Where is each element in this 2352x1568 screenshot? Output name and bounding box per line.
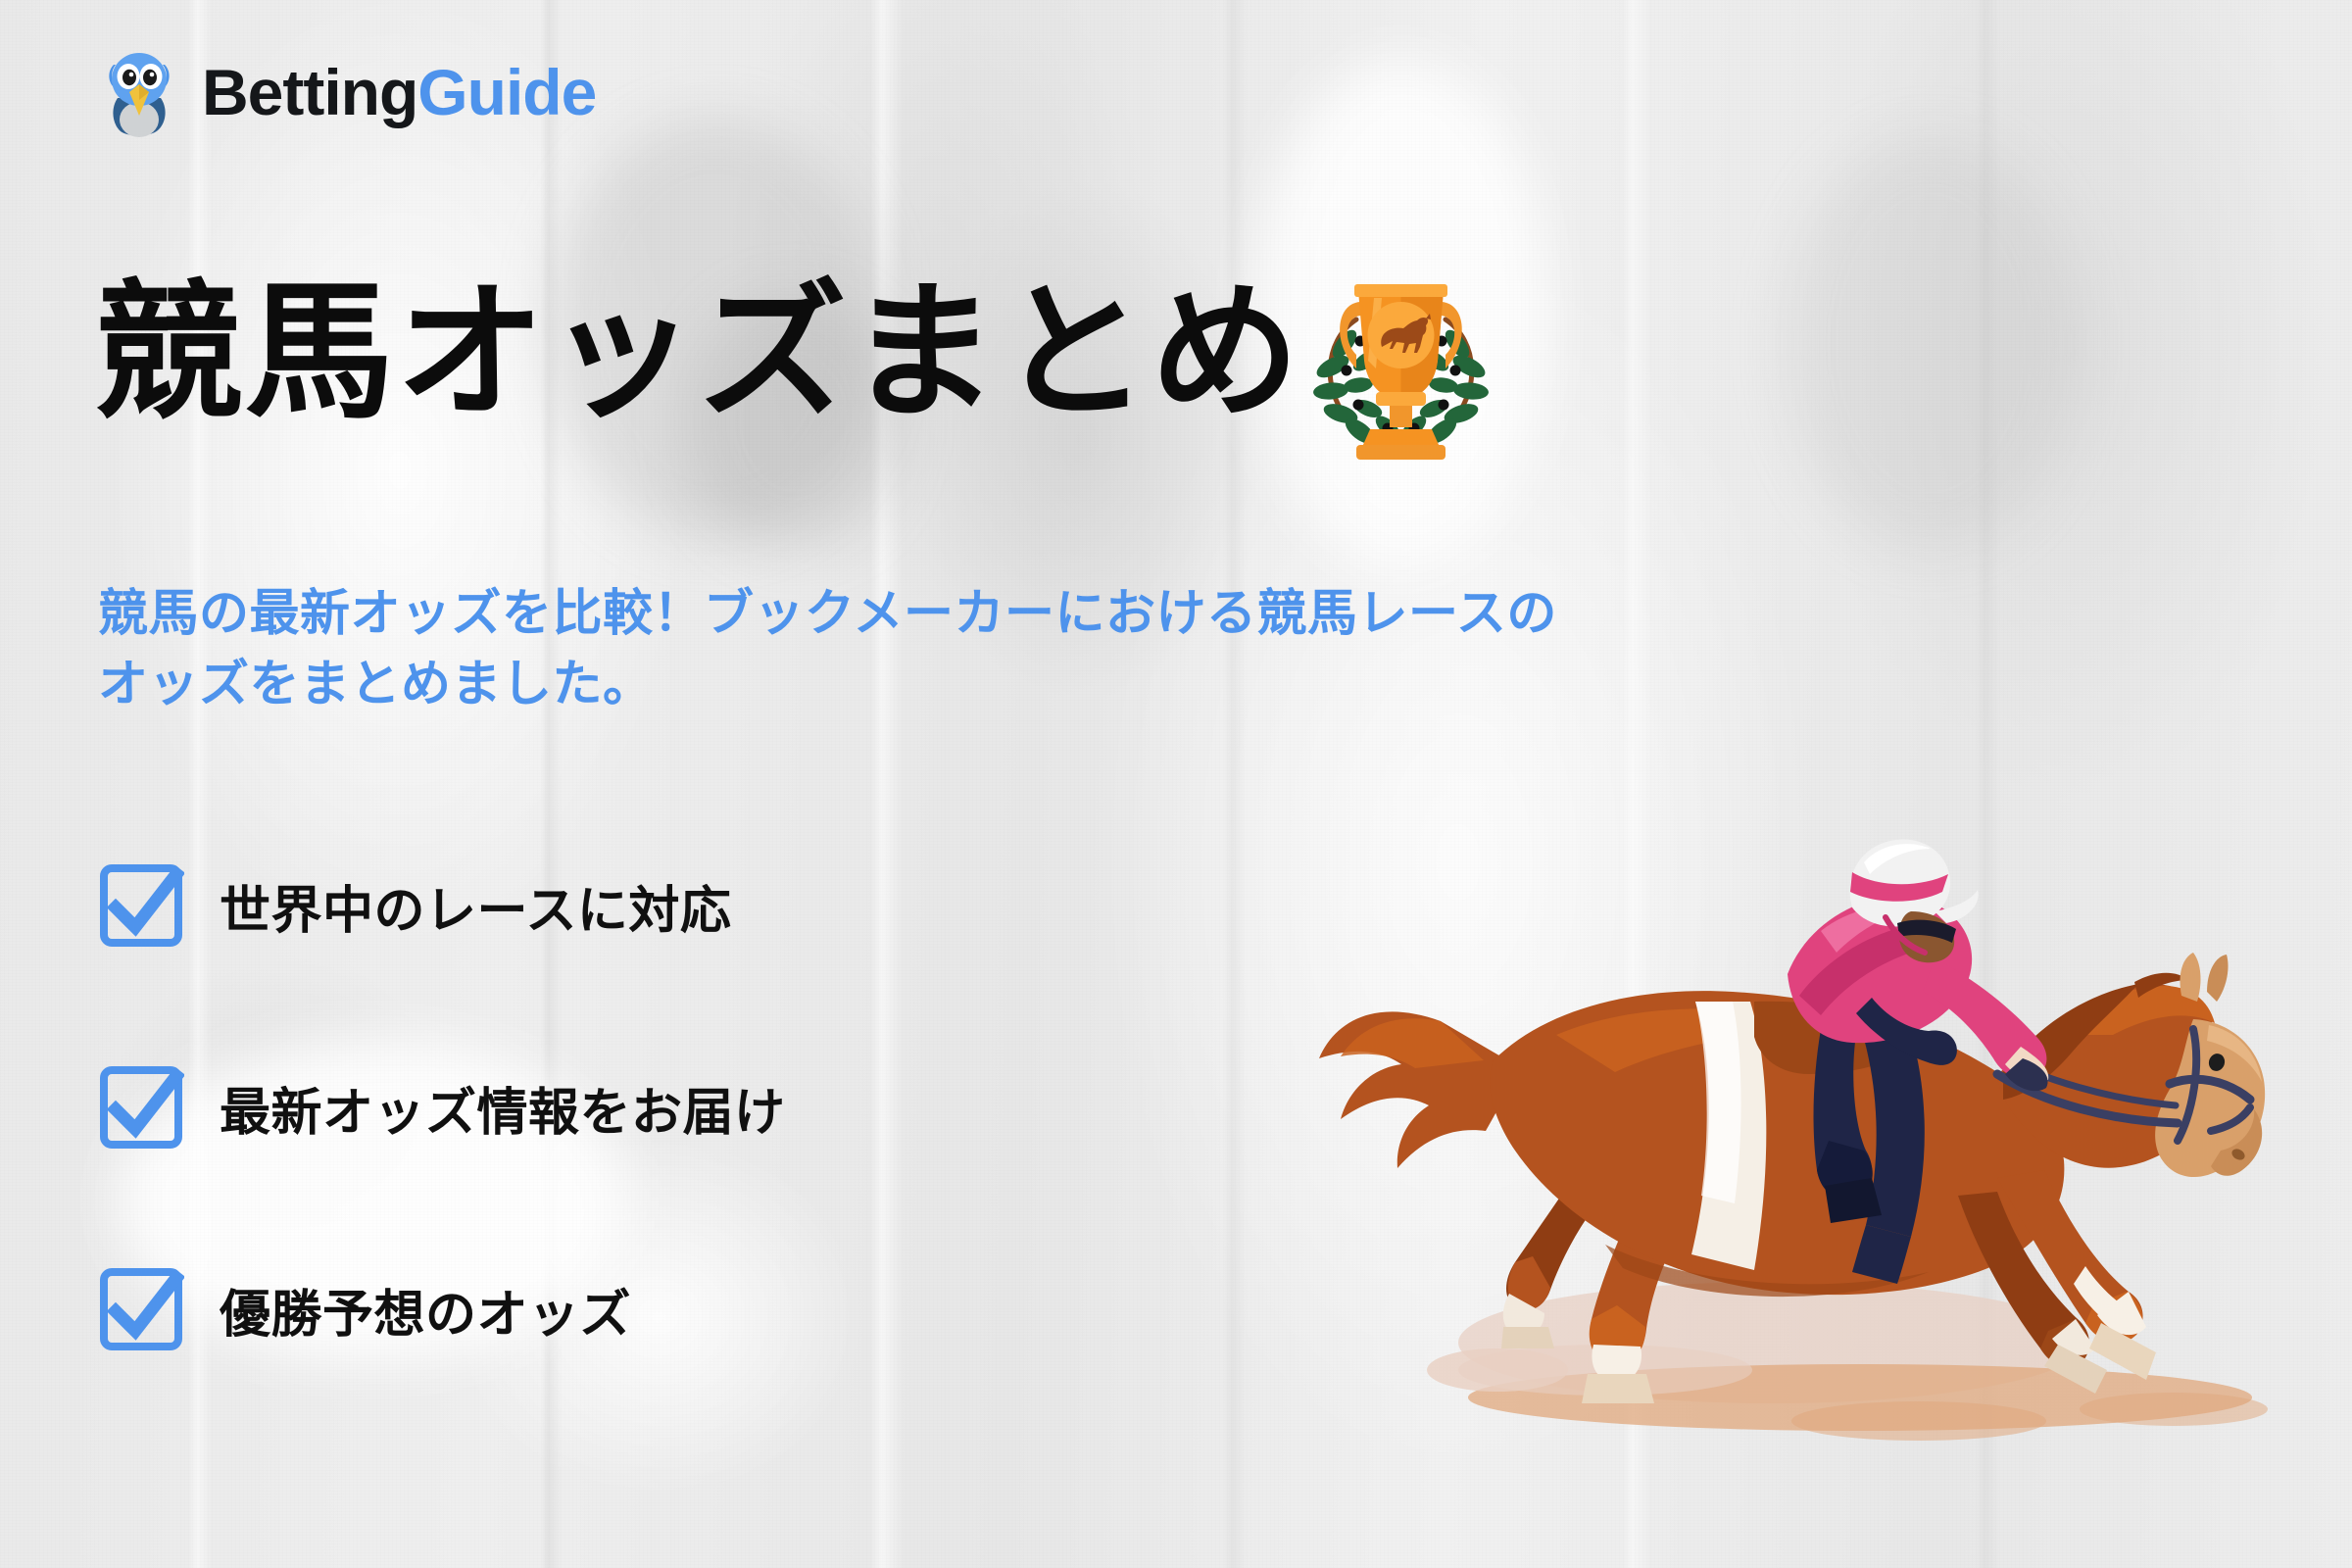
feature-list: 世界中のレースに対応 最新オッズ情報をお届け 優勝予想のオッズ (98, 862, 786, 1352)
feature-label: 最新オッズ情報をお届け (220, 1071, 786, 1145)
brand-wordmark: BettingGuide (202, 60, 596, 124)
brand-name-secondary: Guide (417, 56, 596, 128)
checkbox-checked-icon (98, 1266, 184, 1352)
page-subtitle: 競馬の最新オッズを比較！ブックメーカーにおける競馬レースの オッズをまとめました… (98, 578, 1872, 720)
page-title: 競馬オッズまとめ (94, 245, 1506, 462)
feature-item-1: 最新オッズ情報をお届け (98, 1064, 786, 1151)
poster-canvas: BettingGuide 競馬オッズまとめ (0, 0, 2352, 1568)
feature-label: 世界中のレースに対応 (220, 869, 731, 943)
subtitle-line-1: 競馬の最新オッズを比較！ブックメーカーにおける競馬レースの (98, 578, 1872, 649)
subtitle-line-2: オッズをまとめました。 (98, 649, 1872, 719)
jockey-racehorse-illustration (1311, 735, 2301, 1480)
trophy-horse-icon (1296, 251, 1506, 462)
page-title-text: 競馬オッズまとめ (94, 275, 1301, 432)
feature-label: 優勝予想のオッズ (220, 1273, 631, 1347)
bird-mascot-icon (98, 47, 180, 137)
checkbox-checked-icon (98, 1064, 184, 1151)
feature-item-0: 世界中のレースに対応 (98, 862, 786, 949)
feature-item-2: 優勝予想のオッズ (98, 1266, 786, 1352)
brand-name-primary: Betting (202, 56, 417, 128)
checkbox-checked-icon (98, 862, 184, 949)
brand-logo[interactable]: BettingGuide (98, 47, 596, 137)
